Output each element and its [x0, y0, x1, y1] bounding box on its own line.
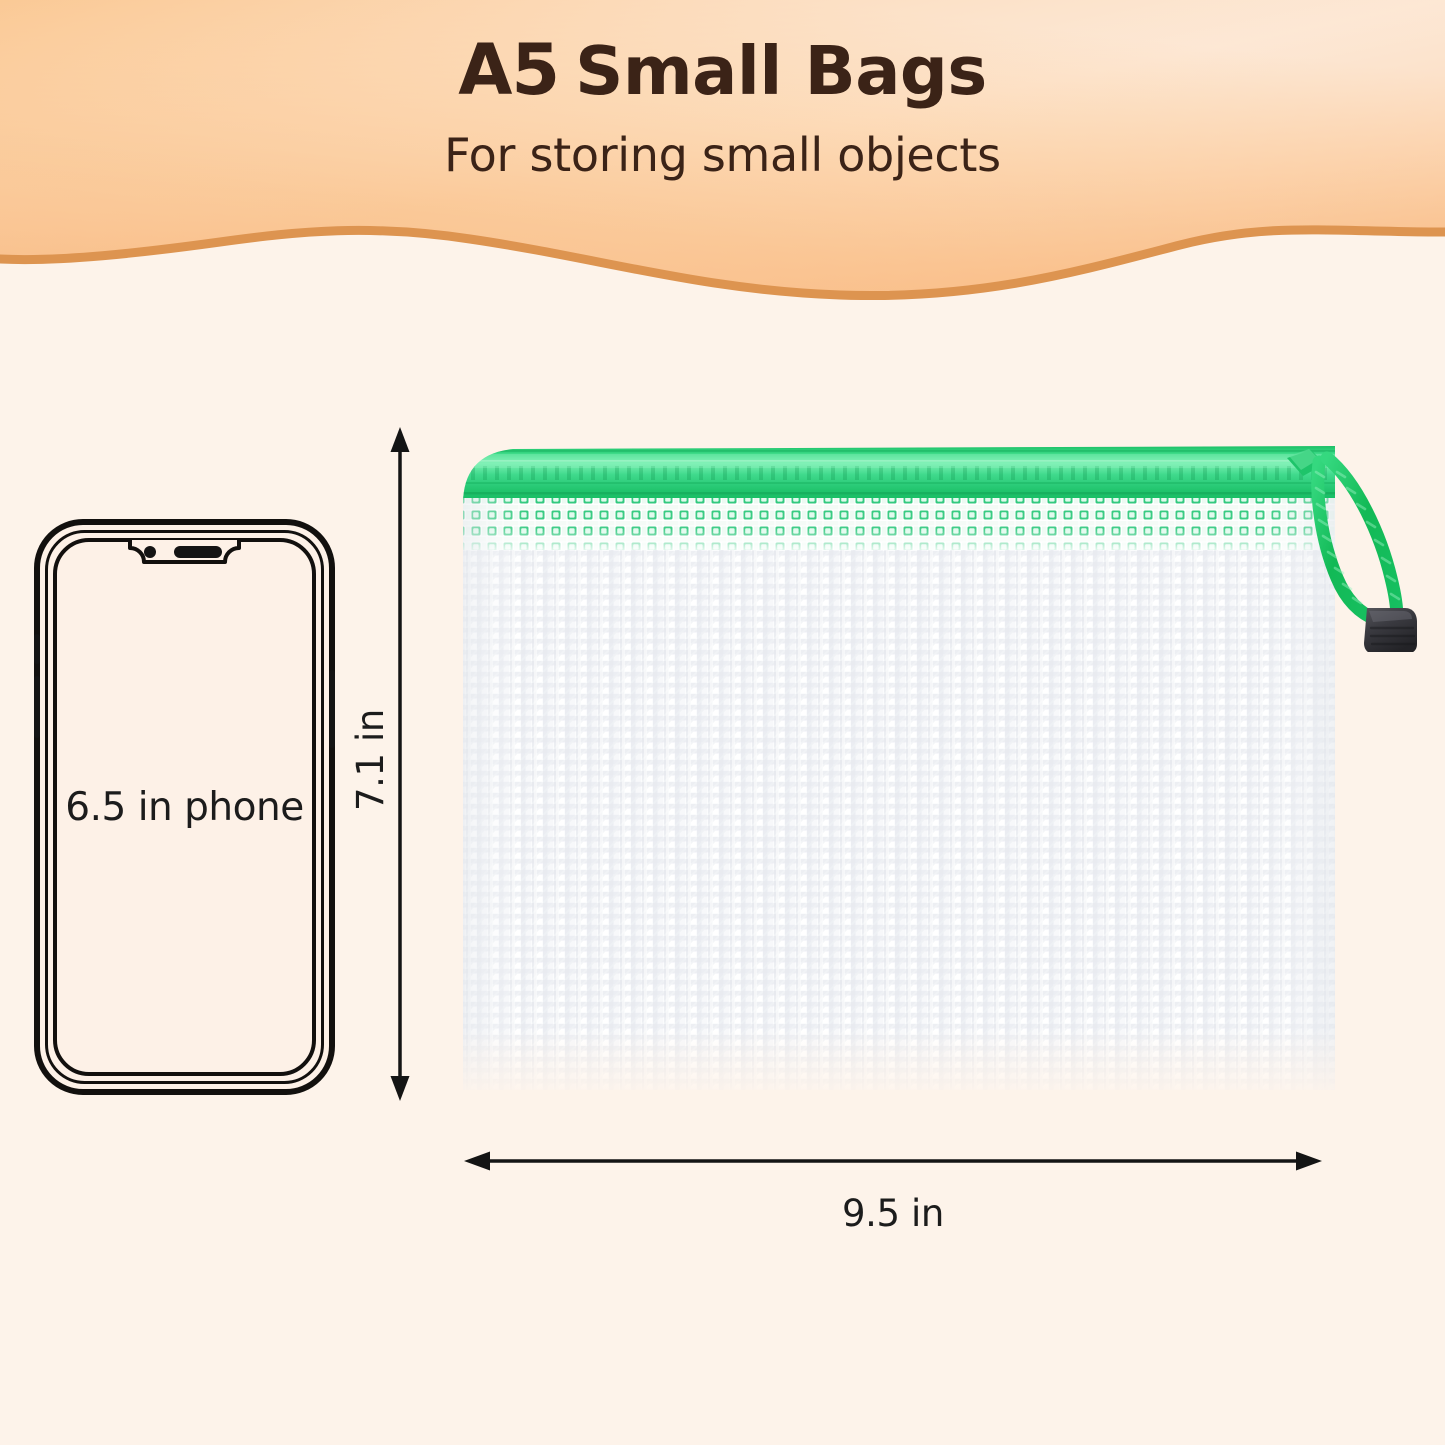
width-dimension-label: 9.5 in — [462, 1192, 1324, 1235]
width-dimension-line — [462, 1148, 1324, 1174]
bag-mesh-accent-band — [455, 494, 1335, 550]
phone-volume-up-button — [34, 634, 40, 664]
zipper-pull-tab — [1285, 432, 1445, 652]
zipper-pull-cord-icon — [1285, 432, 1445, 652]
phone-size-reference: 6.5 in phone — [33, 518, 336, 1096]
product-infographic: A5 Small Bags For storing small objects — [0, 0, 1445, 1445]
height-dimension-label: 7.1 in — [310, 730, 430, 790]
bag-zipper-strip — [455, 444, 1335, 500]
phone-outline-icon — [33, 518, 336, 1096]
phone-camera-icon — [144, 546, 156, 558]
banner-background-shape — [0, 0, 1445, 300]
header-banner: A5 Small Bags For storing small objects — [0, 0, 1445, 300]
phone-speaker-icon — [174, 546, 222, 558]
mesh-zipper-bag-image — [455, 430, 1335, 1102]
phone-volume-down-button — [34, 676, 40, 738]
width-dimension-arrows-icon — [462, 1148, 1324, 1174]
bag-illustration — [455, 430, 1335, 1102]
